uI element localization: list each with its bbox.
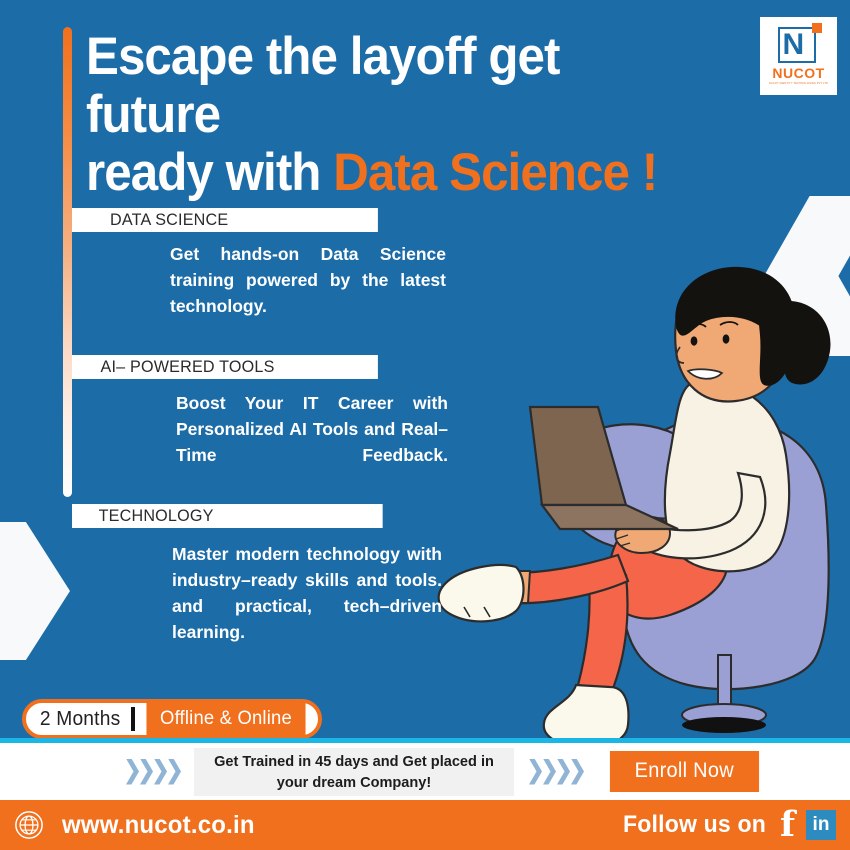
linkedin-icon[interactable]: in xyxy=(806,810,836,840)
chevron-right-icon xyxy=(571,759,584,785)
cta-message: Get Trained in 45 days and Get placed in… xyxy=(194,748,514,796)
logo-letter-n: N xyxy=(783,29,805,61)
follow-us-label: Follow us on xyxy=(623,811,766,839)
illustration-woman-with-laptop xyxy=(430,255,850,755)
headline-line-1: Escape the layoff get future xyxy=(86,27,560,144)
poster-canvas: N NUCOT NUCOT IDENTITY TECHNOLOGIES PVT … xyxy=(0,0,850,850)
feature-body: Get hands-on Data Science training power… xyxy=(170,241,446,345)
chevron-group-left xyxy=(126,759,181,785)
page-title: Escape the layoff get future ready with … xyxy=(86,28,663,202)
feature-item-data-science: DATA SCIENCE Get hands-on Data Science t… xyxy=(72,208,472,345)
headline-line-2-plain: ready with xyxy=(86,143,333,202)
course-mode: Offline & Online xyxy=(146,703,305,736)
facebook-icon[interactable]: f xyxy=(780,809,795,841)
chevron-right-icon xyxy=(168,759,181,785)
feature-body: Master modern technology with industry–r… xyxy=(172,541,442,671)
feature-body: Boost Your IT Career with Personalized A… xyxy=(176,390,448,494)
course-info-badge: 2 Months Offline & Online xyxy=(22,699,322,739)
chevron-right-icon xyxy=(557,759,570,785)
chevron-right-icon xyxy=(529,759,542,785)
chevron-right-icon xyxy=(543,759,556,785)
cta-strip: Get Trained in 45 days and Get placed in… xyxy=(0,743,850,800)
feature-label: DATA SCIENCE xyxy=(72,208,378,232)
chevron-right-icon xyxy=(126,759,139,785)
enroll-now-button[interactable]: Enroll Now xyxy=(610,751,759,792)
logo-tagline: NUCOT IDENTITY TECHNOLOGIES PVT LTD xyxy=(769,81,828,87)
globe-icon xyxy=(14,810,44,840)
chevron-right-decoration-icon xyxy=(0,522,70,660)
chevron-right-icon xyxy=(154,759,167,785)
feature-list: DATA SCIENCE Get hands-on Data Science t… xyxy=(72,208,472,681)
website-url[interactable]: www.nucot.co.in xyxy=(62,811,255,840)
nucot-logo[interactable]: N NUCOT NUCOT IDENTITY TECHNOLOGIES PVT … xyxy=(760,17,837,95)
feature-label: AI– POWERED TOOLS xyxy=(72,355,378,379)
footer-bar: www.nucot.co.in Follow us on f in xyxy=(0,800,850,850)
logo-wordmark: NUCOT xyxy=(772,66,824,80)
course-duration: 2 Months xyxy=(40,708,129,731)
logo-mark-icon: N xyxy=(774,22,824,66)
headline-line-2-accent: Data Science ! xyxy=(333,143,657,202)
feature-item-technology: TECHNOLOGY Master modern technology with… xyxy=(72,504,472,671)
chevron-right-icon xyxy=(140,759,153,785)
accent-side-bar xyxy=(63,27,72,497)
follow-us-section: Follow us on f in xyxy=(620,800,836,850)
logo-orange-dot-icon xyxy=(812,23,822,33)
feature-label: TECHNOLOGY xyxy=(72,504,383,528)
chevron-group-right xyxy=(529,759,584,785)
feature-item-ai-powered-tools: AI– POWERED TOOLS Boost Your IT Career w… xyxy=(72,355,472,494)
badge-divider xyxy=(131,707,135,731)
